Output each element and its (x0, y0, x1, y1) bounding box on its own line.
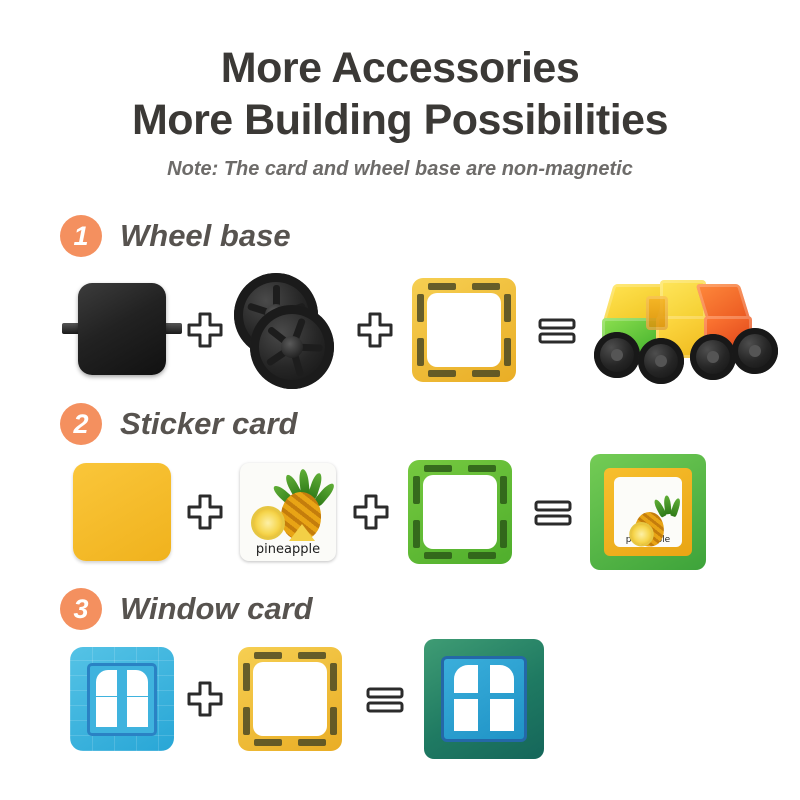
section-2-equation: pineapple (0, 454, 800, 570)
plus-icon (182, 676, 228, 722)
wheels-part (228, 271, 346, 389)
equals-icon (362, 676, 408, 722)
assembled-car (586, 266, 786, 394)
assembled-window-tile (424, 639, 544, 759)
plus-icon (352, 307, 398, 353)
section-wheel-base: 1 Wheel base (0, 212, 800, 394)
yellow-frame-part (412, 278, 516, 382)
green-frame-part (408, 460, 512, 564)
plus-icon (348, 489, 394, 535)
plus-icon (182, 307, 228, 353)
section-1-header: 1 Wheel base (0, 212, 800, 260)
wheel-base-part (62, 275, 182, 385)
section-3-header: 3 Window card (0, 585, 800, 633)
window-icon (441, 656, 527, 742)
step-badge-1: 1 (60, 215, 102, 257)
note-text: Note: The card and wheel base are non-ma… (0, 158, 800, 181)
pineapple-icon (249, 476, 327, 542)
pineapple-icon (628, 500, 668, 535)
equals-icon (530, 489, 576, 535)
equals-icon (534, 307, 580, 353)
yellow-frame-part (238, 647, 342, 751)
sticker-card-label: pineapple (256, 542, 320, 557)
section-3-title: Window card (120, 591, 313, 627)
wheel-base-body (78, 283, 166, 375)
section-2-header: 2 Sticker card (0, 400, 800, 448)
section-1-title: Wheel base (120, 218, 291, 254)
window-card-part (62, 647, 182, 751)
plus-icon (182, 489, 228, 535)
wheel-icon (250, 305, 334, 389)
page-title-line-1: More Accessories (0, 42, 800, 94)
yellow-plate-part (62, 463, 182, 561)
step-badge-3: 3 (60, 588, 102, 630)
section-1-equation (0, 266, 800, 394)
header: More Accessories More Building Possibili… (0, 0, 800, 181)
step-badge-2: 2 (60, 403, 102, 445)
section-sticker-card: 2 Sticker card (0, 400, 800, 570)
assembled-sticker-tile: pineapple (590, 454, 706, 570)
sticker-card-part: pineapple (228, 463, 348, 561)
section-window-card: 3 Window card (0, 585, 800, 759)
window-icon (87, 663, 157, 736)
section-2-title: Sticker card (120, 406, 298, 442)
section-3-equation (0, 639, 800, 759)
page-title-line-2: More Building Possibilities (0, 94, 800, 146)
